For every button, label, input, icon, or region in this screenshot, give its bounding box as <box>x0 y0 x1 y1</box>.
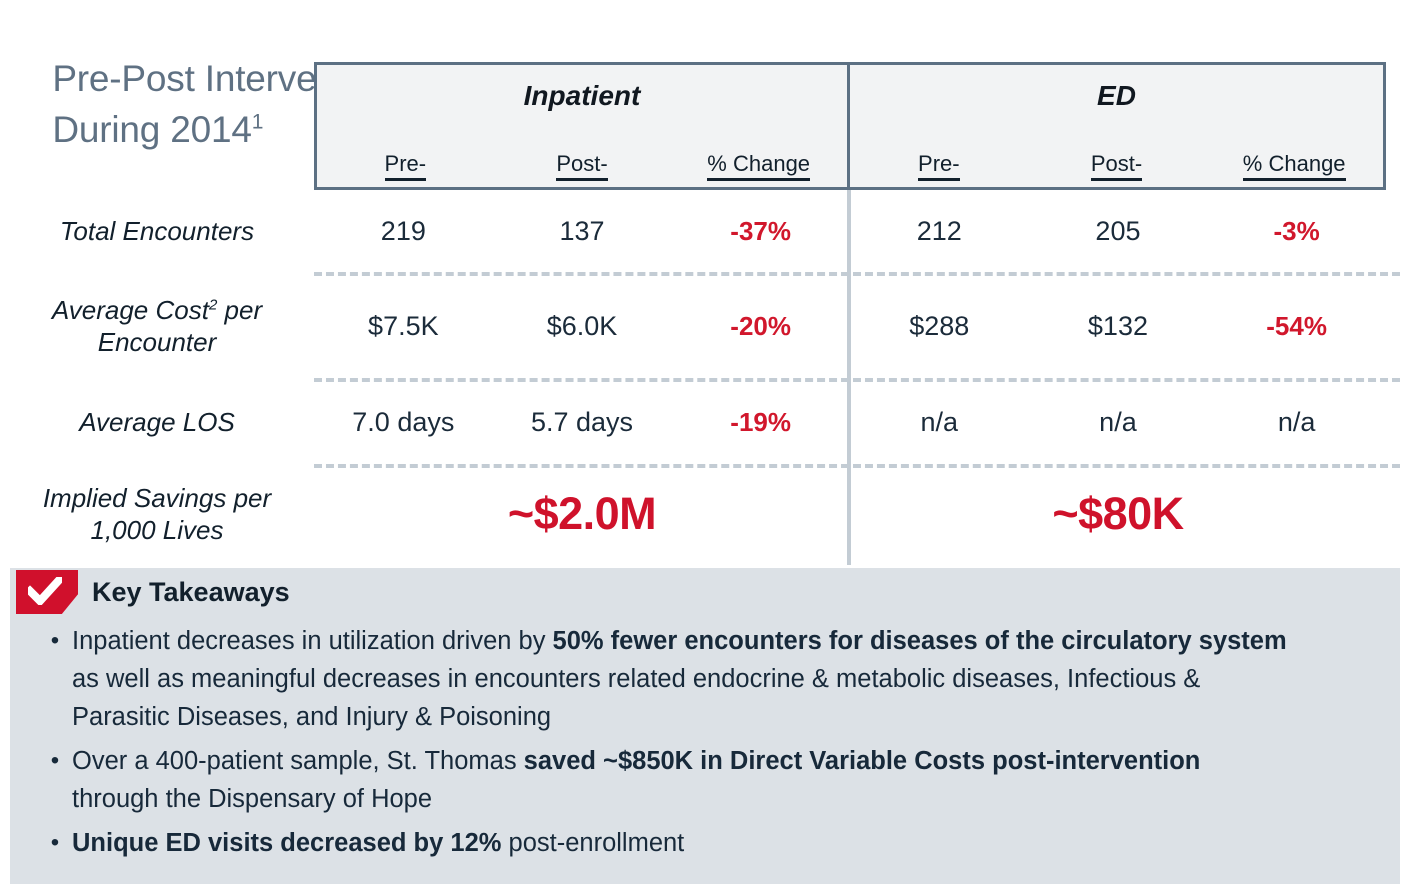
column-header-ed-pre: Pre- <box>850 151 1028 177</box>
key-takeaways-header: Key Takeaways <box>10 568 1400 616</box>
bullet-marker-icon: • <box>38 622 72 736</box>
cell-inpatient-post: 5.7 days <box>493 407 672 438</box>
bullet-text-2: Over a 400-patient sample, St. Thomas sa… <box>72 742 1287 818</box>
row-label-average-cost: Average Cost2 per Encounter <box>0 294 314 358</box>
table-body: Total Encounters 219 137 -37% 212 205 -3… <box>0 190 1400 565</box>
subheader-row-inpatient: Pre- Post- % Change <box>317 127 847 187</box>
table-row-total-encounters: Total Encounters 219 137 -37% 212 205 -3… <box>0 190 1400 272</box>
cell-inpatient-pre: 7.0 days <box>314 407 493 438</box>
cell-ed-pct-change: n/a <box>1207 407 1386 438</box>
group-title-ed: ED <box>850 65 1383 127</box>
row-cells-implied-savings: ~$2.0M ~$80K <box>314 488 1386 540</box>
key-takeaways-title: Key Takeaways <box>92 577 290 608</box>
list-item: • Inpatient decreases in utilization dri… <box>38 622 1378 736</box>
cell-ed-pre: $288 <box>850 311 1029 342</box>
cell-inpatient-pre: $7.5K <box>314 311 493 342</box>
check-icon <box>16 570 78 614</box>
cell-inpatient-implied-savings: ~$2.0M <box>314 488 850 540</box>
subheader-row-ed: Pre- Post- % Change <box>850 127 1383 187</box>
cell-ed-pct-change: -54% <box>1207 311 1386 342</box>
key-takeaways-panel: Key Takeaways • Inpatient decreases in u… <box>10 568 1400 884</box>
column-header-ed-post: Post- <box>1028 151 1206 177</box>
key-takeaways-list: • Inpatient decreases in utilization dri… <box>10 616 1400 862</box>
row-label-average-los: Average LOS <box>0 406 314 438</box>
bullet-marker-icon: • <box>38 742 72 818</box>
row-cells-total-encounters: 219 137 -37% 212 205 -3% <box>314 216 1386 247</box>
list-item: • Unique ED visits decreased by 12% post… <box>38 824 1378 862</box>
cell-inpatient-pct-change: -37% <box>671 216 850 247</box>
column-header-inpatient-pre: Pre- <box>317 151 494 177</box>
table-header-box: Inpatient Pre- Post- % Change ED Pre- Po… <box>314 62 1386 190</box>
cell-ed-implied-savings: ~$80K <box>850 488 1386 540</box>
header-group-inpatient: Inpatient Pre- Post- % Change <box>317 65 850 187</box>
cell-ed-pre: 212 <box>850 216 1029 247</box>
title-footnote-marker: 1 <box>252 111 263 134</box>
bullet-marker-icon: • <box>38 824 72 862</box>
cell-inpatient-pct-change: -19% <box>671 407 850 438</box>
row-cells-average-cost: $7.5K $6.0K -20% $288 $132 -54% <box>314 311 1386 342</box>
page-title-line2: During 2014 <box>52 109 251 150</box>
cell-ed-pre: n/a <box>850 407 1029 438</box>
column-header-inpatient-post: Post- <box>494 151 671 177</box>
list-item: • Over a 400-patient sample, St. Thomas … <box>38 742 1378 818</box>
cell-inpatient-post: $6.0K <box>493 311 672 342</box>
bullet-text-1: Inpatient decreases in utilization drive… <box>72 622 1287 736</box>
bullet-text-3: Unique ED visits decreased by 12% post-e… <box>72 824 684 862</box>
cell-inpatient-post: 137 <box>493 216 672 247</box>
table-row-implied-savings: Implied Savings per 1,000 Lives ~$2.0M ~… <box>0 466 1400 562</box>
slide-root: Pre-Post Intervention Analysis Focuses o… <box>0 0 1421 890</box>
cell-ed-pct-change: -3% <box>1207 216 1386 247</box>
cell-ed-post: 205 <box>1029 216 1208 247</box>
cell-inpatient-pre: 219 <box>314 216 493 247</box>
cell-inpatient-pct-change: -20% <box>671 311 850 342</box>
column-header-ed-pct-change: % Change <box>1205 151 1383 177</box>
cell-ed-post: n/a <box>1029 407 1208 438</box>
row-label-total-encounters: Total Encounters <box>0 215 314 247</box>
group-title-inpatient: Inpatient <box>317 65 847 127</box>
table-row-average-cost: Average Cost2 per Encounter $7.5K $6.0K … <box>0 274 1400 378</box>
column-header-inpatient-pct-change: % Change <box>670 151 847 177</box>
cell-ed-post: $132 <box>1029 311 1208 342</box>
table-row-average-los: Average LOS 7.0 days 5.7 days -19% n/a n… <box>0 380 1400 464</box>
row-label-implied-savings: Implied Savings per 1,000 Lives <box>0 482 314 546</box>
header-group-ed: ED Pre- Post- % Change <box>850 65 1383 187</box>
row-cells-average-los: 7.0 days 5.7 days -19% n/a n/a n/a <box>314 407 1386 438</box>
